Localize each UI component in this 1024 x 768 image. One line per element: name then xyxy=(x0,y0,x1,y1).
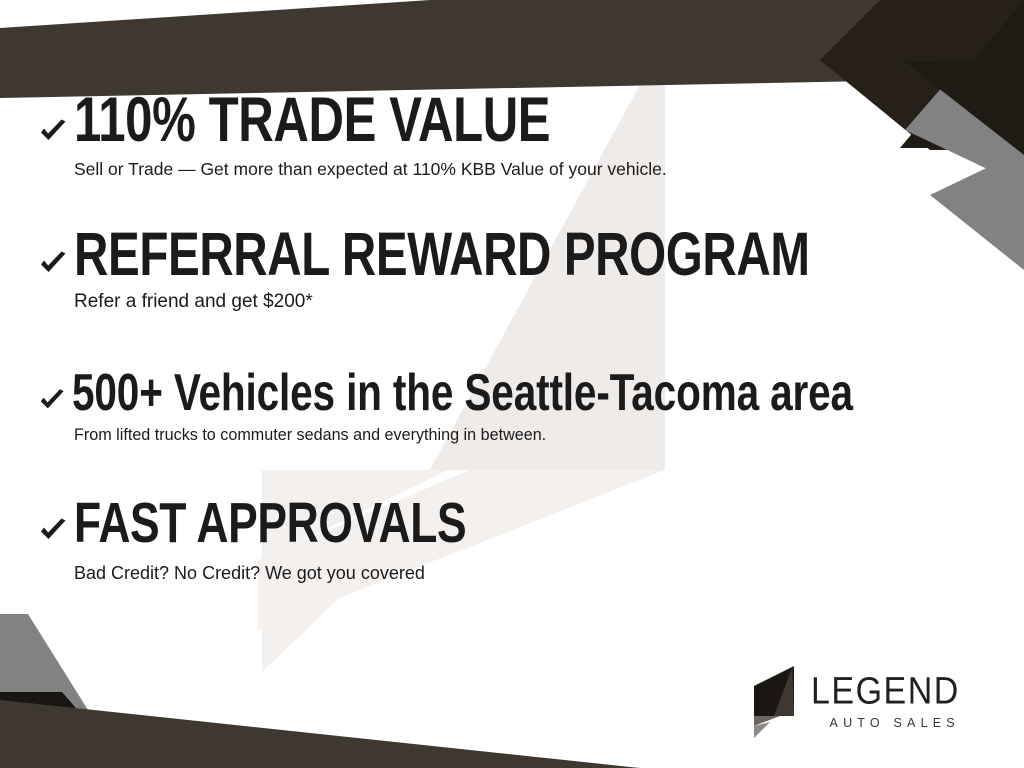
feature-heading-row: REFERRAL REWARD PROGRAM xyxy=(38,226,1017,282)
feature-subtitle: Refer a friend and get $200* xyxy=(74,291,1017,314)
feature-heading-row: 110% TRADE VALUE xyxy=(38,92,685,150)
logo-text: LEGEND AUTO SALES xyxy=(811,674,960,730)
promo-slide: 110% TRADE VALUE Sell or Trade — Get mor… xyxy=(0,0,1024,768)
feature-heading-row: 500+ Vehicles in the Seattle-Tacoma area xyxy=(38,370,1024,418)
feature-subtitle: From lifted trucks to commuter sedans an… xyxy=(74,425,1023,445)
feature-title: FAST APPROVALS xyxy=(74,497,466,549)
feature-title: REFERRAL REWARD PROGRAM xyxy=(74,226,810,282)
check-icon xyxy=(38,386,66,414)
feature-subtitle: Bad Credit? No Credit? We got you covere… xyxy=(74,563,577,585)
feature-title: 500+ Vehicles in the Seattle-Tacoma area xyxy=(72,370,853,418)
logo-wordmark: LEGEND xyxy=(811,672,960,710)
legend-angular-mark-icon xyxy=(748,664,802,740)
logo-tagline: AUTO SALES xyxy=(811,717,960,730)
check-icon xyxy=(38,515,68,545)
feature-item-trade-value: 110% TRADE VALUE Sell or Trade — Get mor… xyxy=(38,92,685,180)
feature-item-inventory-count: 500+ Vehicles in the Seattle-Tacoma area… xyxy=(38,370,1024,445)
feature-item-referral-reward: REFERRAL REWARD PROGRAM Refer a friend a… xyxy=(38,226,1017,314)
check-icon xyxy=(38,116,68,146)
feature-heading-row: FAST APPROVALS xyxy=(38,497,577,549)
check-icon xyxy=(38,248,68,278)
feature-subtitle: Sell or Trade — Get more than expected a… xyxy=(74,159,685,180)
logo: LEGEND AUTO SALES xyxy=(748,664,960,740)
feature-list: 110% TRADE VALUE Sell or Trade — Get mor… xyxy=(0,0,1024,768)
feature-item-fast-approvals: FAST APPROVALS Bad Credit? No Credit? We… xyxy=(38,497,577,585)
feature-title: 110% TRADE VALUE xyxy=(74,92,550,150)
